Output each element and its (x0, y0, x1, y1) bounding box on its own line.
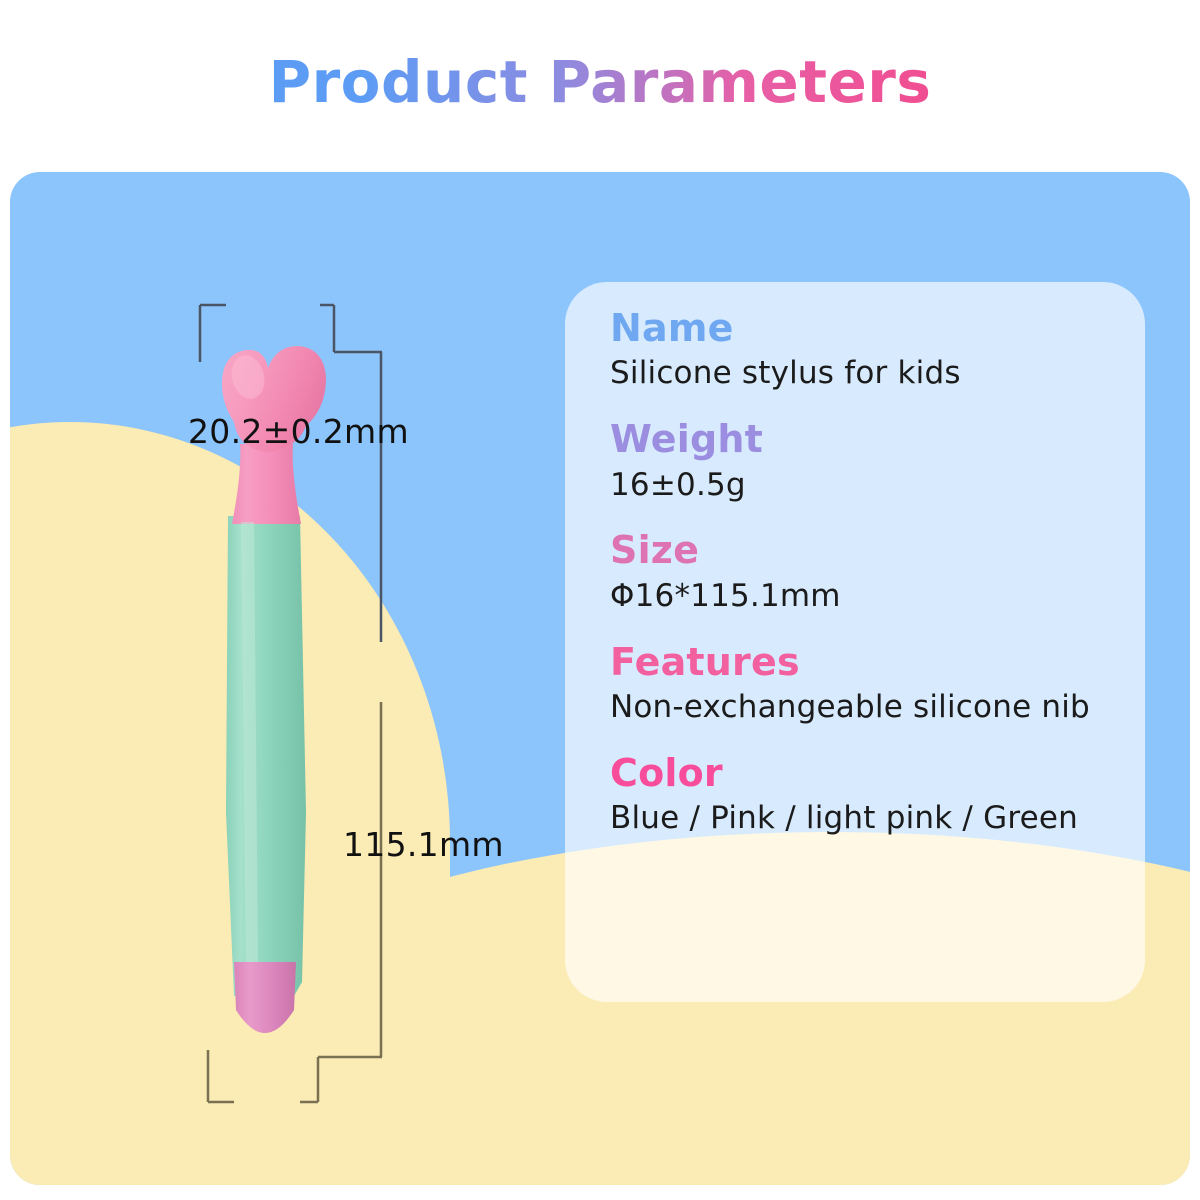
spec-label-color: Color (610, 750, 1125, 796)
spec-label-size: Size (610, 527, 1125, 573)
dimension-label-length: 115.1mm (343, 825, 504, 864)
spec-label-weight: Weight (610, 416, 1125, 462)
spec-value-weight: 16±0.5g (610, 465, 1125, 507)
spec-label-features: Features (610, 639, 1125, 685)
spec-row-features: Features Non-exchangeable silicone nib (610, 639, 1125, 729)
specification-list: Name Silicone stylus for kids Weight 16±… (610, 305, 1125, 840)
spec-value-size: Φ16*115.1mm (610, 576, 1125, 618)
dimension-label-width: 20.2±0.2mm (188, 412, 409, 451)
specification-card: Name Silicone stylus for kids Weight 16±… (565, 282, 1145, 1002)
spec-value-color: Blue / Pink / light pink / Green (610, 798, 1125, 840)
spec-value-features: Non-exchangeable silicone nib (610, 687, 1125, 729)
spec-label-name: Name (610, 305, 1125, 351)
spec-row-color: Color Blue / Pink / light pink / Green (610, 750, 1125, 840)
page-title: Product Parameters (0, 48, 1200, 116)
spec-row-size: Size Φ16*115.1mm (610, 527, 1125, 617)
spec-row-name: Name Silicone stylus for kids (610, 305, 1125, 395)
spec-value-name: Silicone stylus for kids (610, 353, 1125, 395)
spec-row-weight: Weight 16±0.5g (610, 416, 1125, 506)
product-parameters-panel: 20.2±0.2mm 115.1mm Φ16mm Name Silicone s… (10, 172, 1190, 1185)
